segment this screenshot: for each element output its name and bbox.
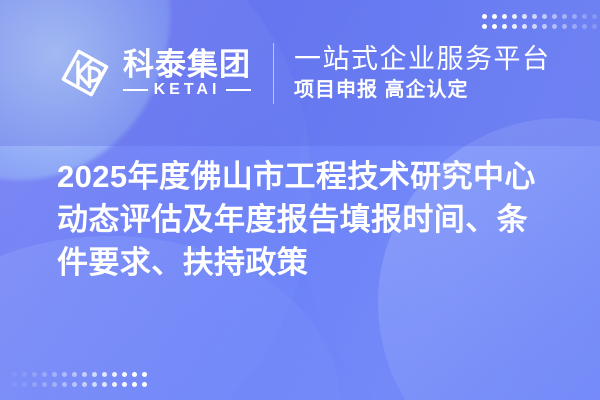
decorative-dot xyxy=(82,372,87,377)
headline-line-2: 动态评估及年度报告填报时间、条 xyxy=(57,198,569,241)
dot-row xyxy=(12,382,147,387)
decorative-dot xyxy=(112,382,117,387)
decorative-dot xyxy=(102,372,107,377)
headline-block: 2025年度佛山市工程技术研究中心 动态评估及年度报告填报时间、条 件要求、扶持… xyxy=(57,155,569,284)
decorative-dot xyxy=(142,382,147,387)
brand-name-cn: 科泰集团 xyxy=(123,49,251,80)
decorative-dot xyxy=(122,382,127,387)
tagline-sub: 项目申报 高企认定 xyxy=(294,80,551,101)
decorative-dot xyxy=(112,372,117,377)
brand-wordmark: 科泰集团 KETAI xyxy=(123,49,251,98)
dot-grid-bottom-left xyxy=(12,372,147,387)
header-taglines: 一站式企业服务平台 项目申报 高企认定 xyxy=(294,45,551,100)
promo-banner: 科泰集团 KETAI 一站式企业服务平台 项目申报 高企认定 2025年度佛山市… xyxy=(0,0,600,400)
decorative-dot xyxy=(142,372,147,377)
decorative-dot xyxy=(82,382,87,387)
decorative-dot xyxy=(62,382,67,387)
decorative-dot xyxy=(92,372,97,377)
headline-line-1: 2025年度佛山市工程技术研究中心 xyxy=(57,155,569,198)
dot-row xyxy=(12,372,147,377)
decorative-dot xyxy=(102,382,107,387)
ketai-kp-diamond-logo-icon xyxy=(58,46,112,100)
decorative-dot xyxy=(52,372,57,377)
decorative-dot xyxy=(22,382,27,387)
decorative-dot xyxy=(32,382,37,387)
decorative-dot xyxy=(52,382,57,387)
brand-name-en-row: KETAI xyxy=(123,82,251,98)
banner-header: 科泰集团 KETAI 一站式企业服务平台 项目申报 高企认定 xyxy=(0,0,600,146)
decorative-dot xyxy=(72,382,77,387)
brand-rule-left xyxy=(123,89,148,91)
decorative-dot xyxy=(42,382,47,387)
decorative-dot xyxy=(92,382,97,387)
decorative-dot xyxy=(42,372,47,377)
brand-name-en: KETAI xyxy=(154,82,221,98)
brand-lockup: 科泰集团 KETAI xyxy=(58,46,251,100)
header-divider xyxy=(273,43,274,104)
decorative-dot xyxy=(32,372,37,377)
decorative-dot xyxy=(22,372,27,377)
decorative-dot xyxy=(122,372,127,377)
tagline-main: 一站式企业服务平台 xyxy=(294,45,551,73)
headline-line-3: 件要求、扶持政策 xyxy=(57,241,569,284)
decorative-dot xyxy=(132,372,137,377)
decorative-dot xyxy=(132,382,137,387)
brand-rule-right xyxy=(226,89,251,91)
decorative-dot xyxy=(12,372,17,377)
decorative-dot xyxy=(12,382,17,387)
decorative-dot xyxy=(72,372,77,377)
decorative-dot xyxy=(62,372,67,377)
